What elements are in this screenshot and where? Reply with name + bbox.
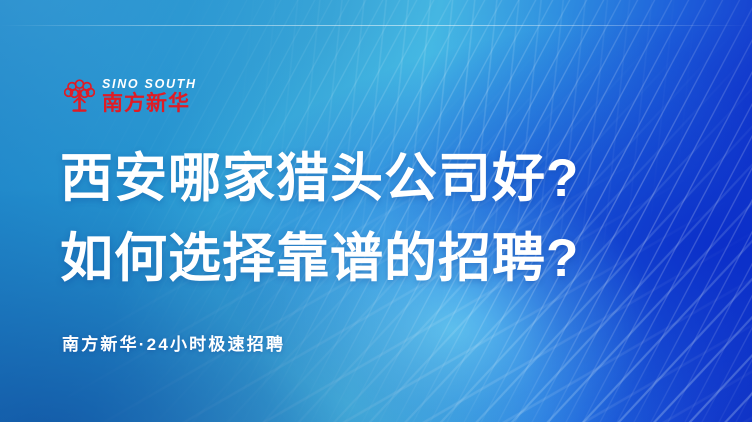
headline: 西安哪家猎头公司好? 如何选择靠谱的招聘? [60,139,579,299]
brand-name-english: SINO SOUTH [102,78,197,91]
tagline: 南方新华·24小时极速招聘 [62,330,285,355]
headline-line-2: 如何选择靠谱的招聘? [60,219,579,299]
background-hairline-rule [0,25,752,26]
tree-icon [64,78,95,114]
headline-line-1: 西安哪家猎头公司好? [60,139,579,219]
brand-logo-text: SINO SOUTH 南方新华 [102,78,197,114]
promo-banner: SINO SOUTH 南方新华 西安哪家猎头公司好? 如何选择靠谱的招聘? 南方… [0,0,752,422]
brand-logo: SINO SOUTH 南方新华 [64,78,197,114]
brand-name-chinese: 南方新华 [102,93,197,114]
